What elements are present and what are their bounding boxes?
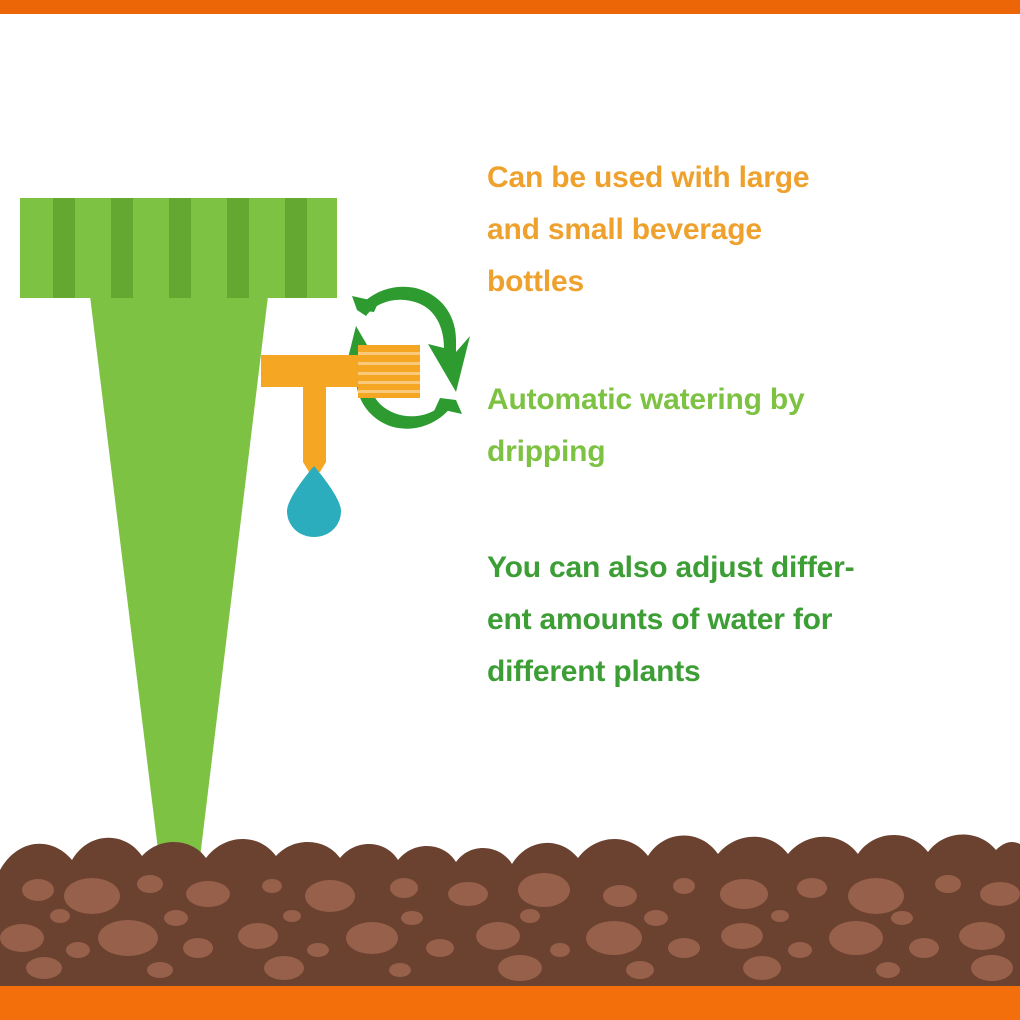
ribbed-adjustment-knob (358, 345, 420, 398)
water-droplet (287, 466, 341, 537)
orange-t-valve-pipe (261, 355, 365, 472)
feature-text: You can also adjust differ- ent amounts … (487, 542, 907, 698)
infographic-canvas: Can be used with large and small beverag… (0, 0, 1020, 1020)
bottom-orange-bar (0, 986, 1020, 1020)
green-watering-spike-cone (90, 296, 268, 866)
feature-automatic-watering: Automatic watering by dripping (487, 374, 907, 478)
soil-ground (0, 834, 1020, 986)
feature-text: Can be used with large and small beverag… (487, 152, 907, 308)
threaded-bottle-cap (20, 198, 337, 298)
feature-text: Automatic watering by dripping (487, 374, 907, 478)
feature-adjustable-flow: You can also adjust differ- ent amounts … (487, 542, 907, 698)
feature-bottle-compatibility: Can be used with large and small beverag… (487, 152, 907, 308)
